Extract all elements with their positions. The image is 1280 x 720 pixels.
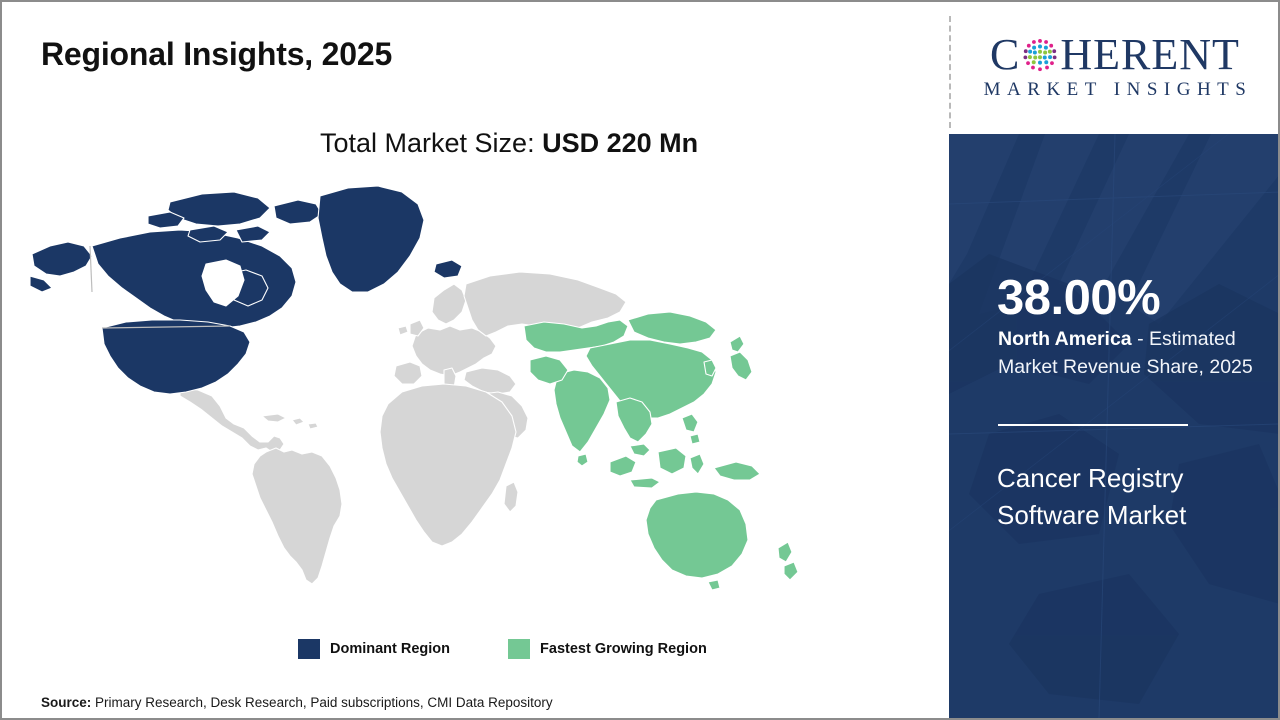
total-market-size-value: USD 220 Mn: [542, 128, 698, 158]
infographic-frame: Regional Insights, 2025 Total Market Siz…: [0, 0, 1280, 720]
market-name: Cancer Registry Software Market: [997, 460, 1259, 534]
panel-divider: [998, 424, 1188, 426]
vertical-dashed-divider: [949, 16, 951, 128]
legend-swatch-dominant: [298, 639, 320, 659]
map-region-asia-pacific: [524, 312, 798, 590]
page-title: Regional Insights, 2025: [41, 36, 392, 73]
stat-percent: 38.00%: [997, 274, 1160, 323]
source-label: Source:: [41, 695, 91, 710]
legend-label-fastest-growing: Fastest Growing Region: [540, 641, 707, 657]
logo-tagline: MARKET INSIGHTS: [978, 79, 1253, 101]
logo-word-pre: C: [990, 33, 1020, 77]
legend-item-fastest-growing: Fastest Growing Region: [508, 639, 707, 659]
highlight-panel: 38.00% North America - Estimated Market …: [949, 134, 1280, 718]
legend-swatch-fastest-growing: [508, 639, 530, 659]
source-text: Primary Research, Desk Research, Paid su…: [91, 695, 552, 710]
legend-item-dominant: Dominant Region: [298, 639, 450, 659]
company-logo: C: [965, 24, 1265, 110]
logo-word-post: HERENT: [1060, 33, 1240, 77]
legend-label-dominant: Dominant Region: [330, 641, 450, 657]
logo-wordmark: C: [990, 33, 1240, 77]
total-market-size: Total Market Size: USD 220 Mn: [320, 128, 698, 159]
stat-region-name: North America: [998, 328, 1132, 350]
left-content-pane: Regional Insights, 2025 Total Market Siz…: [2, 2, 948, 718]
map-region-north-america: [30, 186, 462, 394]
stat-caption: North America - Estimated Market Revenue…: [998, 326, 1266, 381]
total-market-size-label: Total Market Size:: [320, 128, 542, 158]
highlight-panel-content: 38.00% North America - Estimated Market …: [949, 134, 1280, 718]
map-legend: Dominant Region Fastest Growing Region: [298, 639, 707, 659]
world-map: [30, 180, 830, 620]
world-map-container: [30, 180, 830, 620]
source-note: Source: Primary Research, Desk Research,…: [41, 695, 553, 710]
dotted-globe-icon: [1021, 36, 1059, 74]
